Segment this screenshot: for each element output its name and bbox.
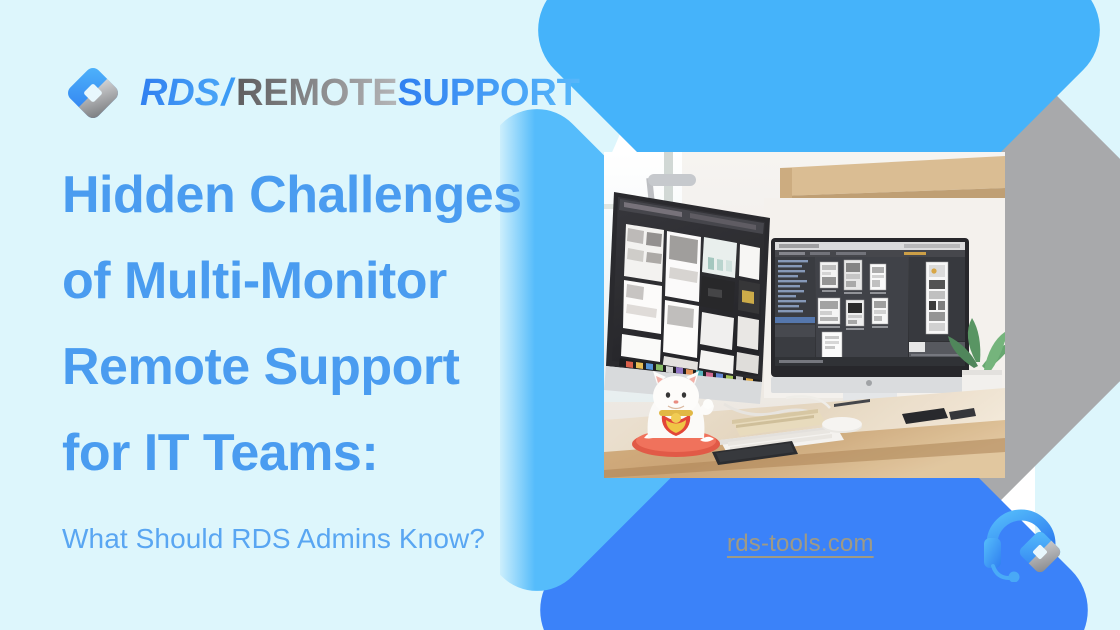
brand-name-support: SUPPORT xyxy=(397,72,579,114)
headline-line-3: Remote Support xyxy=(62,324,582,410)
brand-wordmark: RDS/REMOTESUPPORT xyxy=(140,74,580,112)
page-subtitle: What Should RDS Admins Know? xyxy=(62,523,485,555)
rds-diamond-logo-icon xyxy=(62,62,124,124)
page-title: Hidden Challenges of Multi-Monitor Remot… xyxy=(62,152,582,496)
brand-logo[interactable]: RDS/REMOTESUPPORT xyxy=(62,62,580,124)
brand-name-rds: RDS xyxy=(140,72,220,114)
promo-banner: RDS/REMOTESUPPORT Hidden Challenges of M… xyxy=(0,0,1120,630)
headset-diamond-icon xyxy=(978,498,1074,582)
rds-diamond-logo-svg xyxy=(62,62,124,124)
headline-line-4: for IT Teams: xyxy=(62,410,582,496)
headline-line-2: of Multi-Monitor xyxy=(62,238,582,324)
website-url-link[interactable]: rds-tools.com xyxy=(727,530,874,558)
desk-photo-illustration xyxy=(604,152,1005,478)
headline-line-1: Hidden Challenges xyxy=(62,152,582,238)
desk-photo xyxy=(604,152,1005,478)
headset-diamond-svg xyxy=(978,498,1074,582)
brand-name-remote: REMOTE xyxy=(236,72,397,114)
brand-separator: / xyxy=(222,72,232,114)
